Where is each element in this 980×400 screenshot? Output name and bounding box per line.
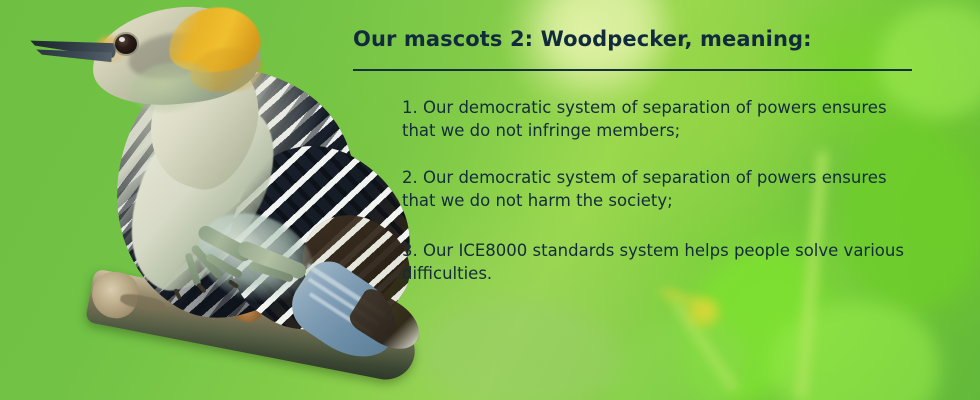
meaning-item-1: 1. Our democratic system of separation o… [402, 96, 920, 142]
banner-content: Our mascots 2: Woodpecker, meaning: 1. O… [0, 0, 980, 400]
heading-divider [353, 69, 912, 71]
mascot-banner: Our mascots 2: Woodpecker, meaning: 1. O… [0, 0, 980, 400]
meaning-item-3: 3. Our ICE8000 standards system helps pe… [402, 239, 920, 285]
meaning-item-2: 2. Our democratic system of separation o… [402, 166, 920, 212]
banner-heading: Our mascots 2: Woodpecker, meaning: [353, 27, 812, 51]
